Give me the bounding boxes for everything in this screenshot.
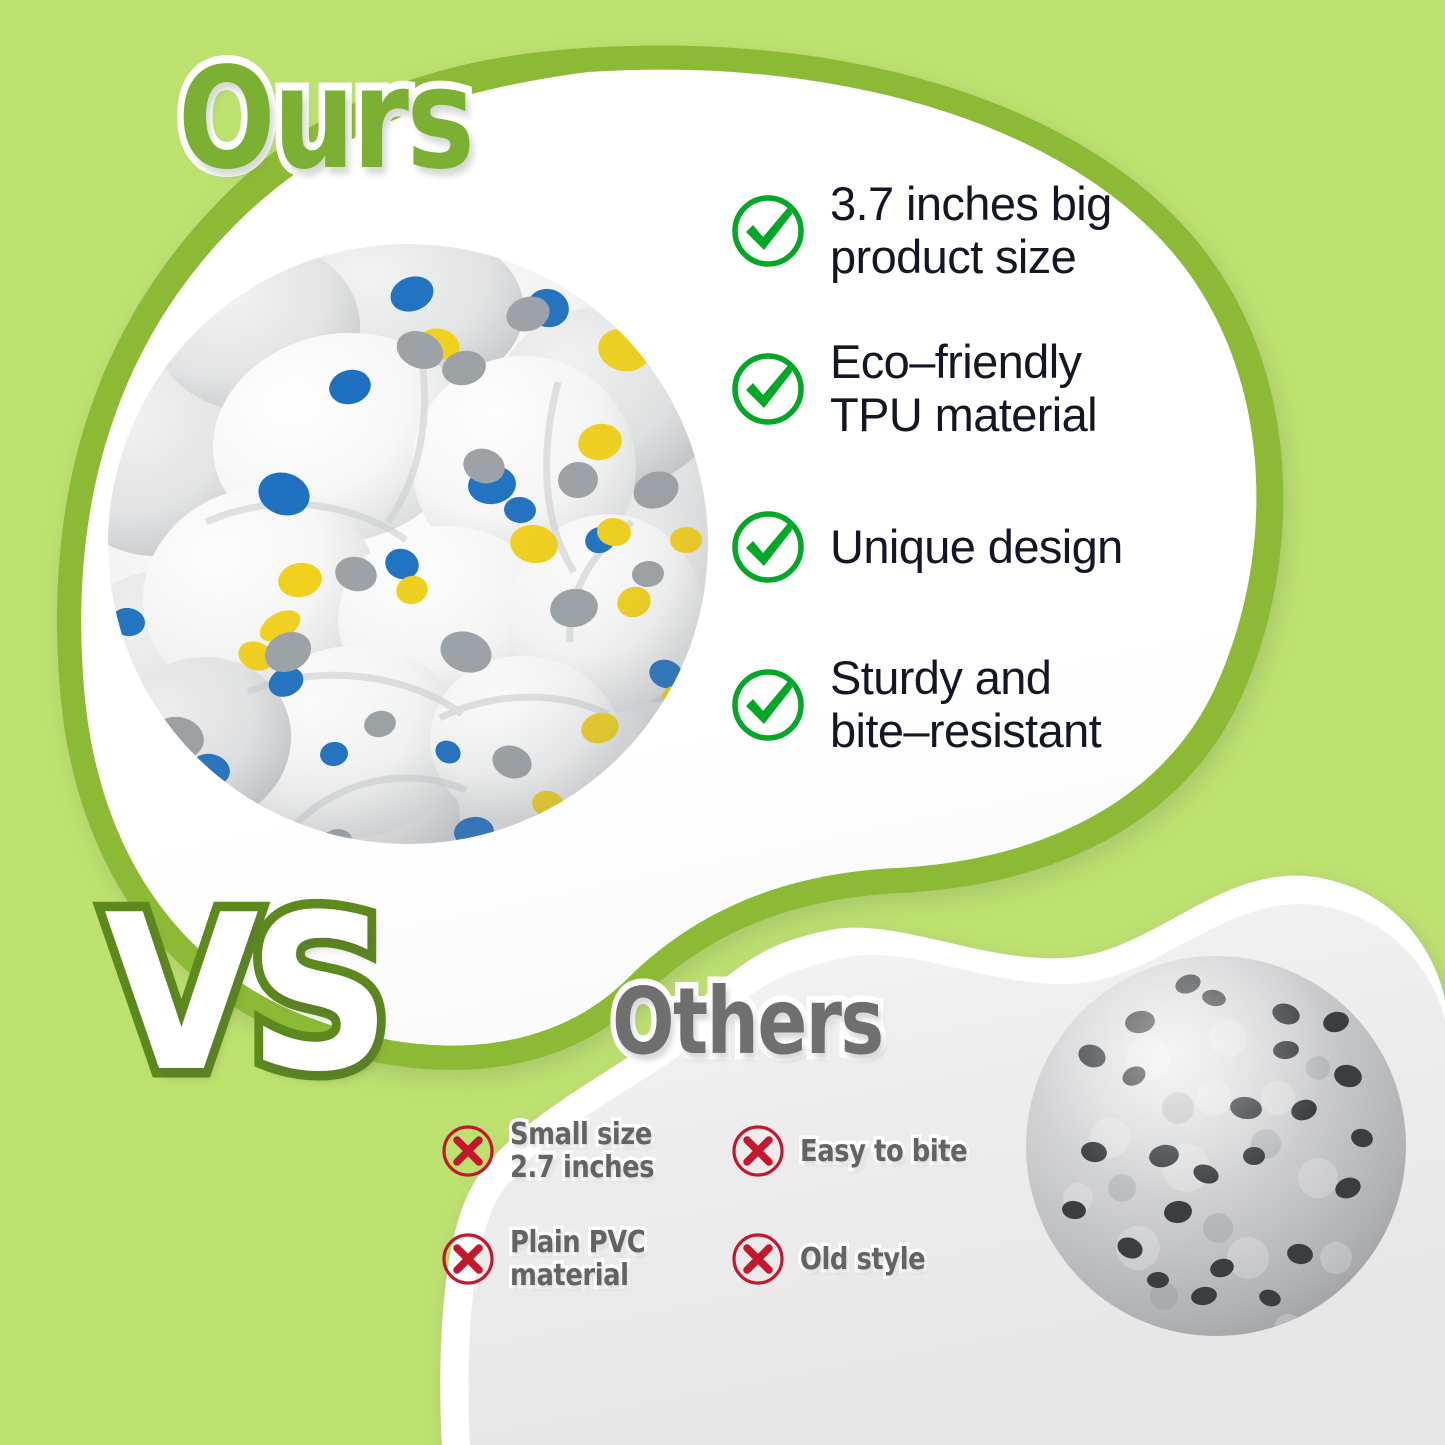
con-row-top: Small size 2.7 inches Easy to bite <box>440 1118 1020 1184</box>
x-circle-icon <box>730 1123 786 1179</box>
con-item-old-style: Old style <box>730 1226 1020 1292</box>
con-item-easy-to-bite: Easy to bite <box>730 1118 1020 1184</box>
x-circle-icon <box>440 1123 496 1179</box>
infographic-canvas: Ours VS Others 3.7 inches big product si… <box>0 0 1445 1445</box>
feature-item-material: Eco–friendly TPU material <box>730 310 1200 468</box>
feature-item-durability: Sturdy and bite–resistant <box>730 626 1200 784</box>
con-row-bottom: Plain PVC material Old style <box>440 1226 1020 1292</box>
con-item-plain-pvc: Plain PVC material <box>440 1226 730 1292</box>
others-con-list: Small size 2.7 inches Easy to bite <box>440 1118 1020 1292</box>
con-label: Old style <box>800 1243 925 1276</box>
feature-label: 3.7 inches big product size <box>830 178 1112 283</box>
feature-line-2: TPU material <box>830 389 1097 442</box>
x-circle-icon <box>730 1231 786 1287</box>
feature-line-1: Sturdy and <box>830 652 1101 705</box>
con-line-2: 2.7 inches <box>510 1151 654 1184</box>
ours-product-ball-image <box>88 222 728 862</box>
check-circle-icon <box>730 667 806 743</box>
vs-label: VS <box>104 868 380 1119</box>
check-circle-icon <box>730 193 806 269</box>
con-label: Easy to bite <box>800 1135 967 1168</box>
check-circle-icon <box>730 351 806 427</box>
others-title: Others <box>612 968 883 1075</box>
feature-line-1: Unique design <box>830 521 1123 574</box>
x-circle-icon <box>440 1231 496 1287</box>
con-line-1: Easy to bite <box>800 1135 967 1168</box>
feature-label: Unique design <box>830 521 1123 574</box>
con-line-1: Plain PVC <box>510 1226 645 1259</box>
feature-line-2: product size <box>830 231 1112 284</box>
feature-label: Eco–friendly TPU material <box>830 336 1097 441</box>
con-label: Small size 2.7 inches <box>510 1118 654 1184</box>
feature-label: Sturdy and bite–resistant <box>830 652 1101 757</box>
ours-feature-list: 3.7 inches big product size Eco–friendly… <box>730 152 1200 784</box>
ours-title: Ours <box>178 38 472 201</box>
feature-line-2: bite–resistant <box>830 705 1101 758</box>
feature-item-design: Unique design <box>730 468 1200 626</box>
con-label: Plain PVC material <box>510 1226 645 1292</box>
feature-line-1: 3.7 inches big <box>830 178 1112 231</box>
con-item-small-size: Small size 2.7 inches <box>440 1118 730 1184</box>
feature-line-1: Eco–friendly <box>830 336 1097 389</box>
check-circle-icon <box>730 509 806 585</box>
feature-item-size: 3.7 inches big product size <box>730 152 1200 310</box>
con-line-1: Old style <box>800 1243 925 1276</box>
con-line-2: material <box>510 1259 645 1292</box>
others-product-ball-image <box>1018 948 1414 1344</box>
con-line-1: Small size <box>510 1118 654 1151</box>
